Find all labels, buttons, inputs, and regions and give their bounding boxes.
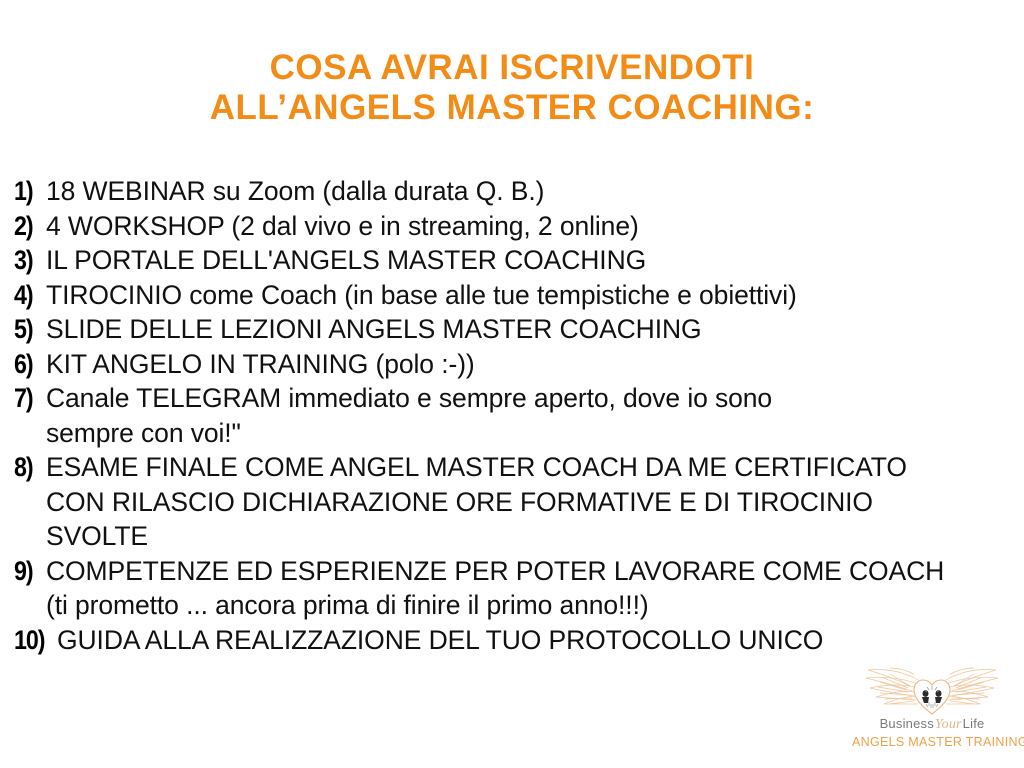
logo-tagline: ANGELS MASTER TRAINING	[852, 734, 1012, 750]
list-item-text: 4 WORKSHOP (2 dal vivo e in streaming, 2…	[46, 209, 1010, 244]
benefits-list: 1) 18 WEBINAR su Zoom (dalla durata Q. B…	[14, 174, 1010, 657]
brand-logo: BusinessYourLife ANGELS MASTER TRAINING	[852, 666, 1012, 758]
list-item-line: 18 WEBINAR su Zoom (dalla durata Q. B.)	[46, 176, 544, 206]
list-item-marker: 7)	[14, 381, 42, 416]
list-item-text: Canale TELEGRAM immediato e sempre apert…	[46, 381, 1010, 450]
list-item: 7) Canale TELEGRAM immediato e sempre ap…	[14, 381, 1010, 450]
list-item: 9) COMPETENZE ED ESPERIENZE PER POTER LA…	[14, 554, 1010, 623]
title-line-1: COSA AVRAI ISCRIVENDOTI	[0, 48, 1024, 88]
list-item-text: SLIDE DELLE LEZIONI ANGELS MASTER COACHI…	[46, 312, 1010, 347]
list-item-text: IL PORTALE DELL'ANGELS MASTER COACHING	[46, 243, 1010, 278]
list-item: 4) TIROCINIO come Coach (in base alle tu…	[14, 278, 1010, 313]
list-item-marker: 9)	[14, 554, 42, 589]
list-item-marker: 8)	[14, 450, 42, 485]
list-item-line: TIROCINIO come Coach (in base alle tue t…	[46, 280, 797, 310]
list-item: 8) ESAME FINALE COME ANGEL MASTER COACH …	[14, 450, 1010, 554]
winged-heart-logo-icon	[852, 666, 1012, 718]
list-item-line: SVOLTE	[46, 519, 1010, 554]
list-item-line: CON RILASCIO DICHIARAZIONE ORE FORMATIVE…	[46, 485, 1010, 520]
list-item-line: ESAME FINALE COME ANGEL MASTER COACH DA …	[46, 452, 907, 482]
logo-word-your: Your	[934, 717, 963, 732]
list-item-line: GUIDA ALLA REALIZZAZIONE DEL TUO PROTOCO…	[57, 625, 823, 655]
list-item-marker: 10)	[14, 623, 51, 658]
page-title: COSA AVRAI ISCRIVENDOTI ALL’ANGELS MASTE…	[0, 48, 1024, 128]
logo-word-life: Life	[963, 716, 985, 731]
list-item-marker: 6)	[14, 347, 42, 382]
list-item-line: KIT ANGELO IN TRAINING (polo :-))	[46, 349, 475, 379]
list-item-line: COMPETENZE ED ESPERIENZE PER POTER LAVOR…	[46, 556, 944, 586]
logo-brand-line: BusinessYourLife	[852, 716, 1012, 732]
list-item-marker: 3)	[14, 243, 42, 278]
list-item: 6) KIT ANGELO IN TRAINING (polo :-))	[14, 347, 1010, 382]
list-item: 1) 18 WEBINAR su Zoom (dalla durata Q. B…	[14, 174, 1010, 209]
logo-wordmark: BusinessYourLife ANGELS MASTER TRAINING	[852, 716, 1012, 750]
list-item-marker: 4)	[14, 278, 42, 313]
list-item: 10) GUIDA ALLA REALIZZAZIONE DEL TUO PRO…	[14, 623, 1010, 658]
list-item-marker: 1)	[14, 174, 42, 209]
list-item-marker: 5)	[14, 312, 42, 347]
list-item-text: 18 WEBINAR su Zoom (dalla durata Q. B.)	[46, 174, 1010, 209]
list-item-line: Canale TELEGRAM immediato e sempre apert…	[46, 383, 772, 413]
list-item-text: TIROCINIO come Coach (in base alle tue t…	[46, 278, 1010, 313]
list-item-text: KIT ANGELO IN TRAINING (polo :-))	[46, 347, 1010, 382]
list-item-line: (ti prometto ... ancora prima di finire …	[46, 588, 1010, 623]
list-item-text: ESAME FINALE COME ANGEL MASTER COACH DA …	[46, 450, 1010, 554]
list-item: 5) SLIDE DELLE LEZIONI ANGELS MASTER COA…	[14, 312, 1010, 347]
list-item-marker: 2)	[14, 209, 42, 244]
list-item-line: IL PORTALE DELL'ANGELS MASTER COACHING	[46, 245, 646, 275]
slide-canvas: COSA AVRAI ISCRIVENDOTI ALL’ANGELS MASTE…	[0, 0, 1024, 768]
list-item-line: sempre con voi!"	[46, 416, 1010, 451]
list-item: 3) IL PORTALE DELL'ANGELS MASTER COACHIN…	[14, 243, 1010, 278]
list-item-line: 4 WORKSHOP (2 dal vivo e in streaming, 2…	[46, 211, 639, 241]
title-line-2: ALL’ANGELS MASTER COACHING:	[0, 88, 1024, 128]
list-item-text: GUIDA ALLA REALIZZAZIONE DEL TUO PROTOCO…	[57, 623, 1010, 658]
list-item-line: SLIDE DELLE LEZIONI ANGELS MASTER COACHI…	[46, 314, 702, 344]
list-item: 2) 4 WORKSHOP (2 dal vivo e in streaming…	[14, 209, 1010, 244]
logo-word-business: Business	[880, 716, 934, 731]
list-item-text: COMPETENZE ED ESPERIENZE PER POTER LAVOR…	[46, 554, 1010, 623]
